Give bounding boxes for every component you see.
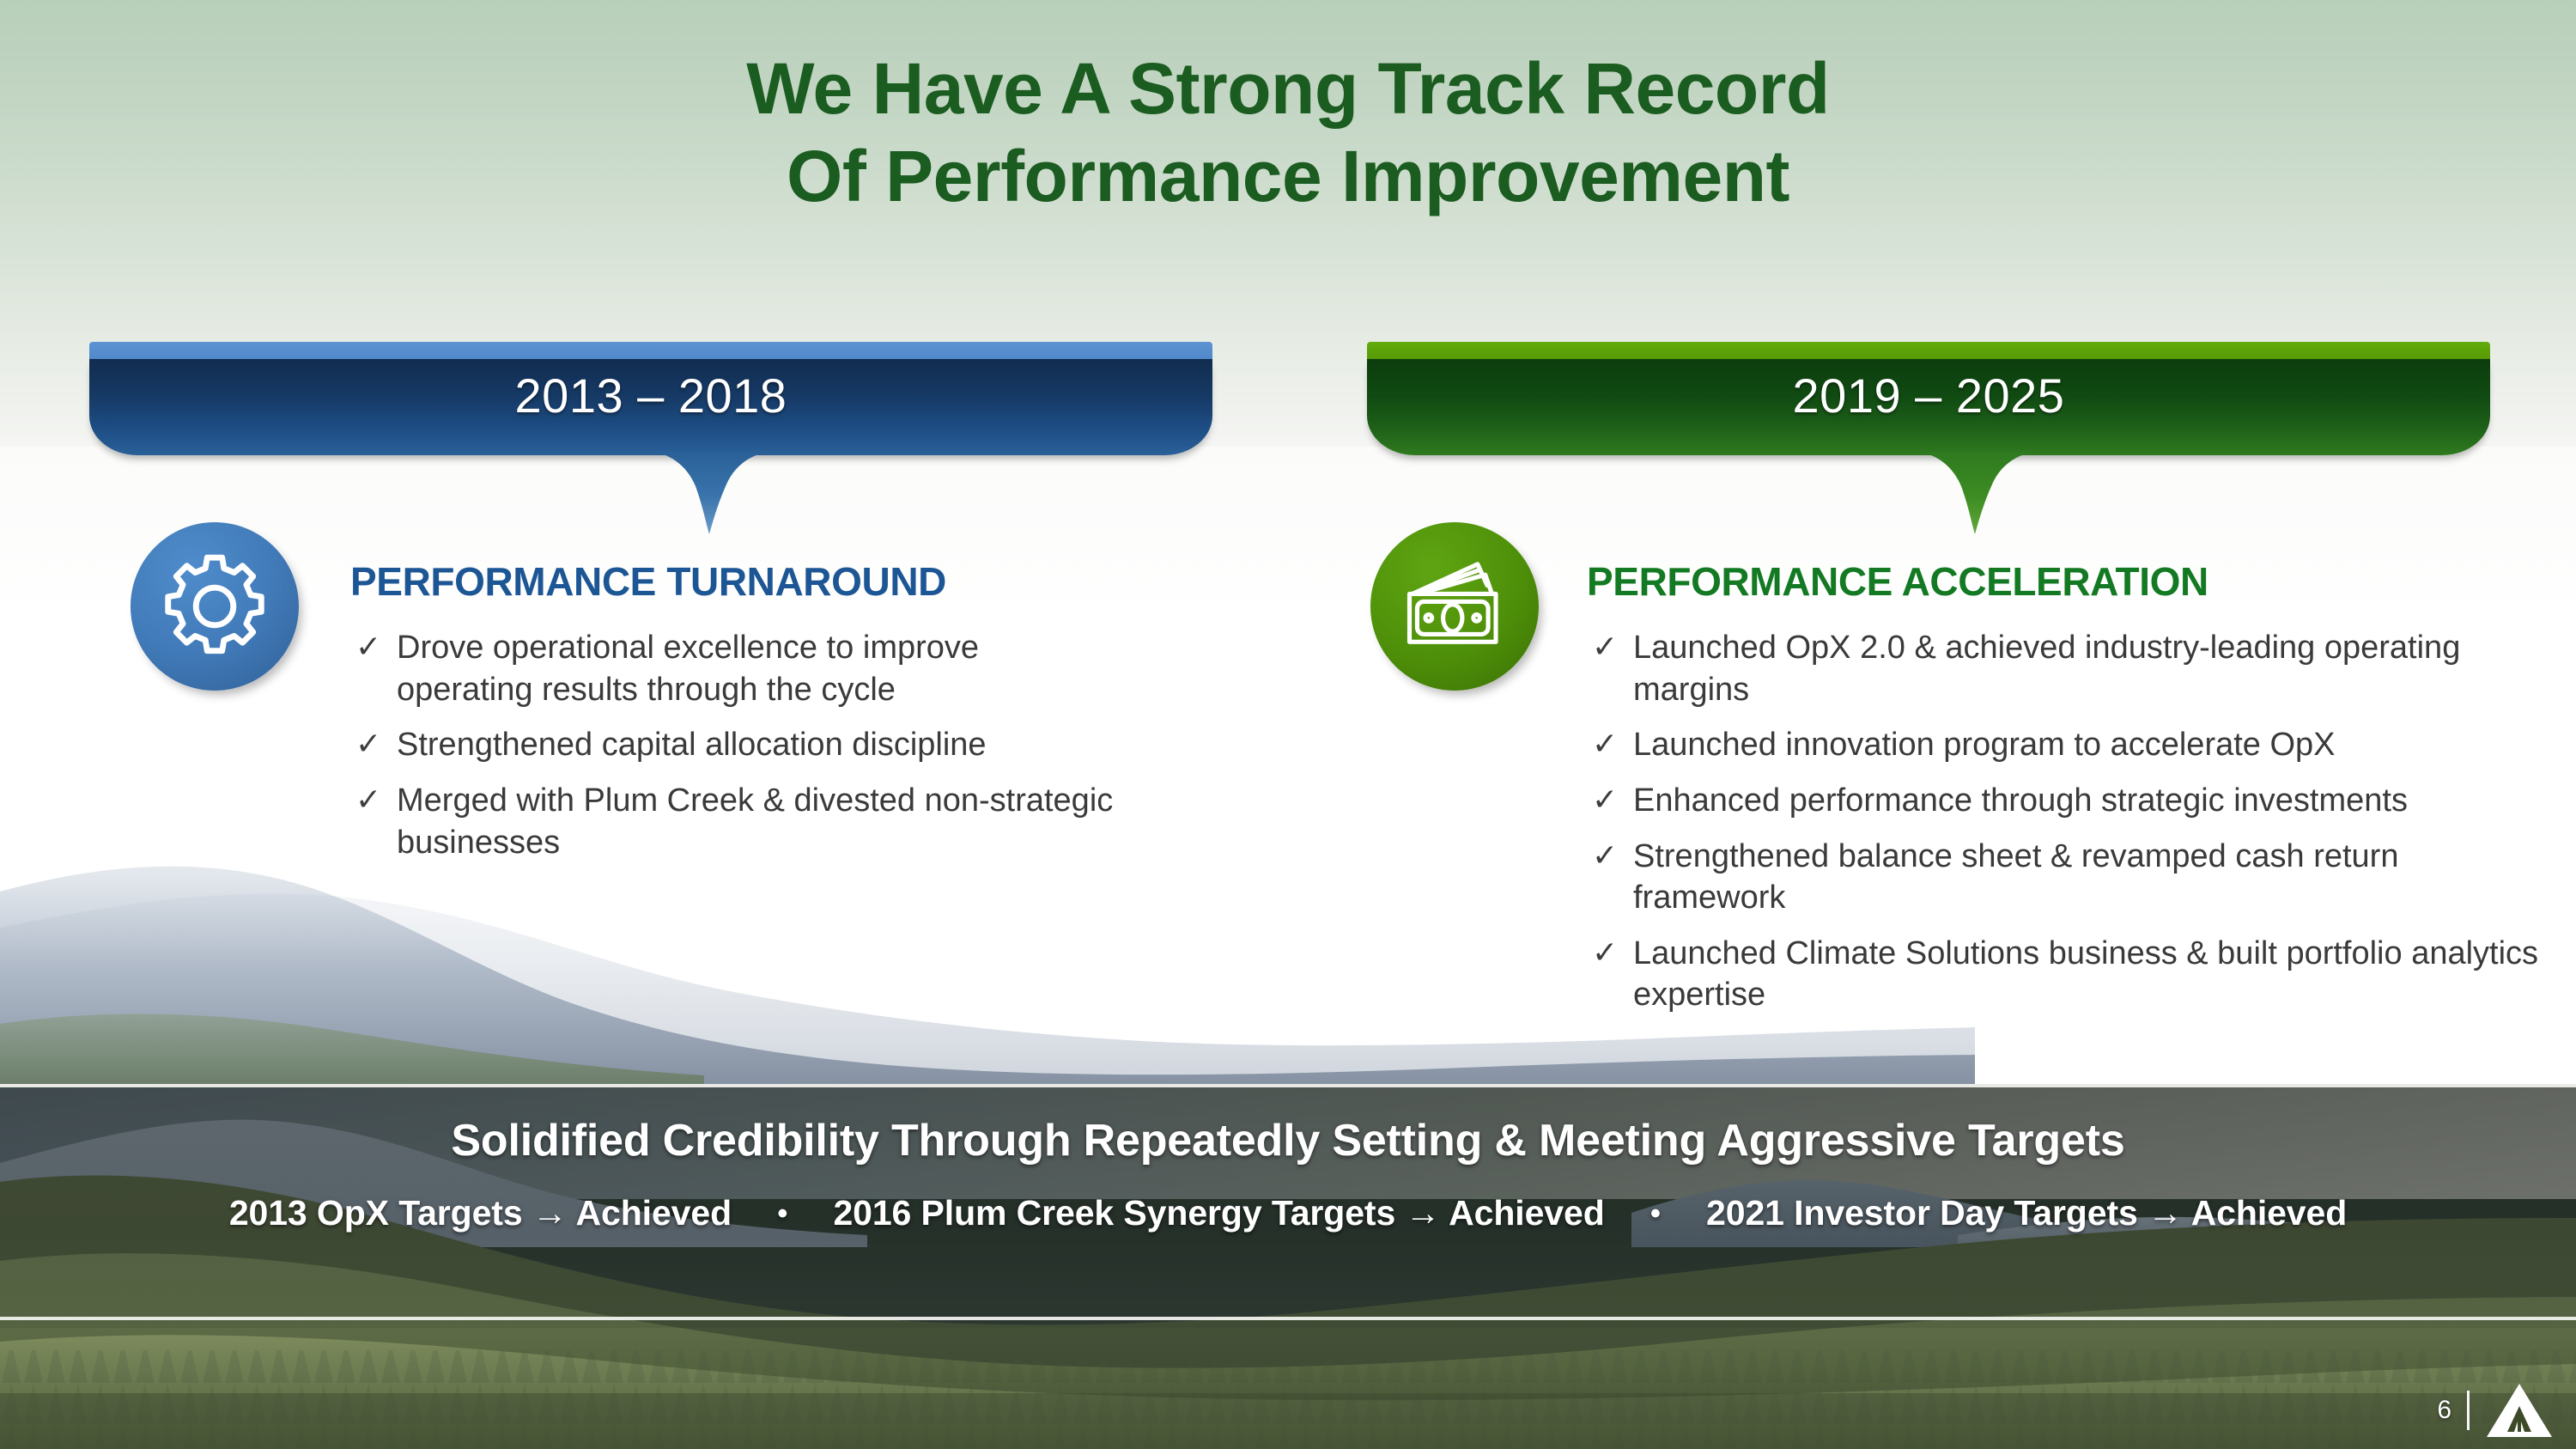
right-column-heading: PERFORMANCE ACCELERATION (1587, 558, 2549, 605)
check-icon: ✓ (350, 627, 397, 667)
band-item-2: 2016 Plum Creek Synergy Targets → Achiev… (833, 1193, 1604, 1233)
slide-title-line-1: We Have A Strong Track Record (746, 48, 1829, 129)
slide-title-line-2: Of Performance Improvement (0, 132, 2576, 220)
bullet-text: Enhanced performance through strategic i… (1633, 780, 2408, 822)
bullet-text: Drove operational excellence to improve … (397, 627, 1123, 710)
band-item-1: 2013 OpX Targets → Achieved (229, 1193, 732, 1233)
list-item: ✓ Strengthened capital allocation discip… (350, 724, 1123, 766)
check-icon: ✓ (1587, 627, 1633, 667)
list-item: ✓ Drove operational excellence to improv… (350, 627, 1123, 710)
slide-title: We Have A Strong Track Record Of Perform… (0, 45, 2576, 221)
list-item: ✓ Launched OpX 2.0 & achieved industry-l… (1587, 627, 2549, 710)
check-icon: ✓ (1587, 724, 1633, 764)
band-item-3: 2021 Investor Day Targets → Achieved (1706, 1193, 2347, 1233)
list-item: ✓ Launched Climate Solutions business & … (1587, 933, 2549, 1016)
check-icon: ✓ (350, 724, 397, 764)
period-banner-2013-2018: 2013 – 2018 (89, 342, 1212, 548)
slide-footer: 6 (2437, 1384, 2552, 1437)
band-separator-2: • (1614, 1197, 1697, 1231)
period-banner-2019-2025: 2019 – 2025 (1367, 342, 2490, 548)
footer-divider (2467, 1391, 2470, 1430)
page-number: 6 (2437, 1396, 2467, 1425)
right-bullet-list: ✓ Launched OpX 2.0 & achieved industry-l… (1587, 627, 2549, 1016)
slide-canvas: We Have A Strong Track Record Of Perform… (0, 0, 2576, 1449)
check-icon: ✓ (350, 780, 397, 819)
banner-pointer-left (651, 452, 771, 536)
left-column-heading: PERFORMANCE TURNAROUND (350, 558, 1123, 605)
gear-icon (131, 522, 299, 691)
banner-pointer-right (1917, 452, 2037, 536)
banner-label-right: 2019 – 2025 (1367, 368, 2490, 423)
check-icon: ✓ (1587, 836, 1633, 875)
bottom-photo-band: Solidified Credibility Through Repeatedl… (0, 1084, 2576, 1449)
bullet-text: Merged with Plum Creek & divested non-st… (397, 780, 1123, 863)
check-icon: ✓ (1587, 933, 1633, 972)
band-bottom-rule (0, 1317, 2576, 1320)
band-top-rule (0, 1084, 2576, 1087)
bullet-text: Launched OpX 2.0 & achieved industry-lea… (1633, 627, 2549, 710)
weyerhaeuser-triangle-logo-icon (2487, 1384, 2552, 1437)
banner-label-left: 2013 – 2018 (89, 368, 1212, 423)
banknotes-icon (1370, 522, 1539, 691)
check-icon: ✓ (1587, 780, 1633, 819)
list-item: ✓ Merged with Plum Creek & divested non-… (350, 780, 1123, 863)
band-headline: Solidified Credibility Through Repeatedl… (0, 1115, 2576, 1166)
list-item: ✓ Enhanced performance through strategic… (1587, 780, 2549, 822)
bullet-text: Launched innovation program to accelerat… (1633, 724, 2336, 766)
band-subline: 2013 OpX Targets → Achieved • 2016 Plum … (0, 1193, 2576, 1233)
band-separator-1: • (741, 1197, 823, 1231)
bullet-text: Strengthened balance sheet & revamped ca… (1633, 836, 2549, 919)
bullet-text: Strengthened capital allocation discipli… (397, 724, 987, 766)
list-item: ✓ Strengthened balance sheet & revamped … (1587, 836, 2549, 919)
right-column: PERFORMANCE ACCELERATION ✓ Launched OpX … (1587, 558, 2549, 1030)
bullet-text: Launched Climate Solutions business & bu… (1633, 933, 2549, 1016)
left-column: PERFORMANCE TURNAROUND ✓ Drove operation… (350, 558, 1123, 877)
left-bullet-list: ✓ Drove operational excellence to improv… (350, 627, 1123, 863)
list-item: ✓ Launched innovation program to acceler… (1587, 724, 2549, 766)
